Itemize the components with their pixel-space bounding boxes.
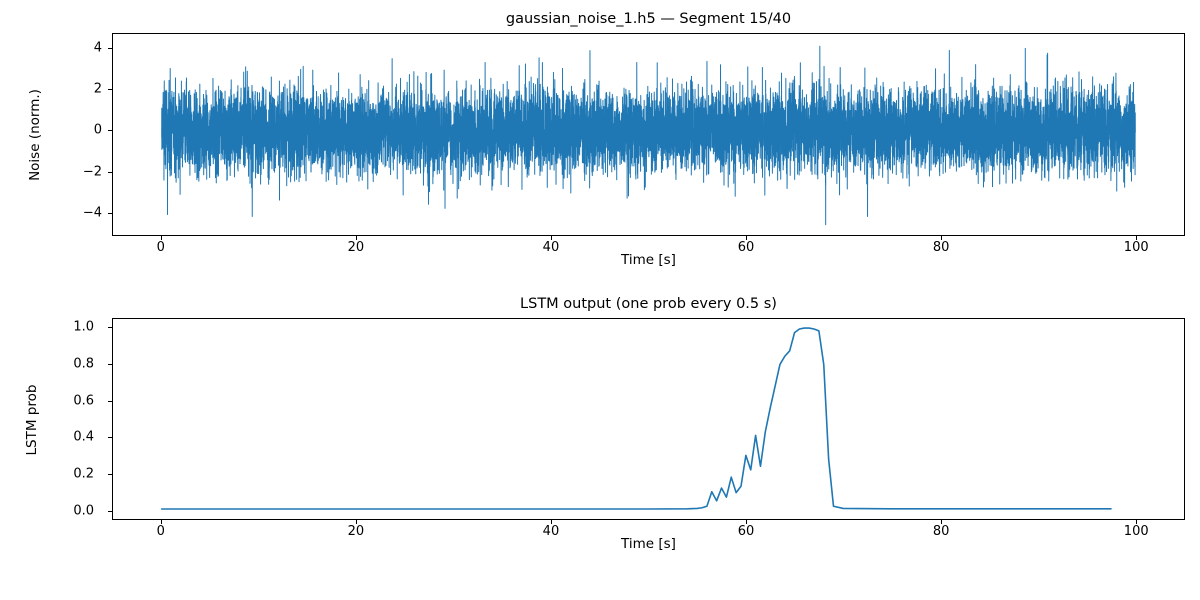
lstm-plot-title: LSTM output (one prob every 0.5 s): [112, 296, 1185, 312]
x-tick-mark: [941, 520, 942, 524]
y-tick-label: 1.0: [50, 320, 94, 335]
y-tick-label: 0.6: [50, 393, 94, 408]
noise-trace-plot: [113, 34, 1184, 235]
y-tick-label: 0.8: [50, 356, 94, 371]
lstm-panel: LSTM output (one prob every 0.5 s) LSTM …: [0, 290, 1200, 600]
x-tick-label: 80: [933, 524, 950, 539]
lstm-probability-line: [162, 328, 1111, 509]
x-tick-mark: [356, 236, 357, 240]
x-tick-label: 100: [1124, 524, 1149, 539]
x-tick-label: 60: [738, 240, 755, 255]
x-tick-mark: [746, 236, 747, 240]
y-tick-label: 2: [58, 81, 102, 96]
x-tick-label: 60: [738, 524, 755, 539]
noise-plot-title: gaussian_noise_1.h5 — Segment 15/40: [112, 11, 1185, 27]
noise-panel: gaussian_noise_1.h5 — Segment 15/40 Nois…: [0, 0, 1200, 290]
lstm-axes-frame: [112, 318, 1185, 520]
x-tick-label: 80: [933, 240, 950, 255]
lstm-probability-plot: [113, 319, 1184, 519]
lstm-x-axis-label: Time [s]: [112, 536, 1185, 552]
y-tick-label: −4: [58, 206, 102, 221]
y-tick-label: 0.4: [50, 430, 94, 445]
lstm-y-axis-label: LSTM prob: [24, 340, 40, 500]
x-tick-label: 40: [543, 524, 560, 539]
x-tick-mark: [551, 236, 552, 240]
y-tick-label: 0: [58, 123, 102, 138]
x-tick-mark: [1136, 236, 1137, 240]
x-tick-mark: [161, 520, 162, 524]
noise-trace-line: [162, 46, 1136, 224]
x-tick-label: 20: [348, 524, 365, 539]
y-tick-label: 4: [58, 40, 102, 55]
x-tick-label: 20: [348, 240, 365, 255]
x-tick-label: 0: [157, 524, 165, 539]
noise-axes-frame: [112, 33, 1185, 236]
x-tick-label: 40: [543, 240, 560, 255]
x-tick-label: 100: [1124, 240, 1149, 255]
y-tick-label: −2: [58, 164, 102, 179]
figure-canvas: gaussian_noise_1.h5 — Segment 15/40 Nois…: [0, 0, 1200, 600]
x-tick-mark: [746, 520, 747, 524]
x-tick-mark: [161, 236, 162, 240]
x-tick-mark: [551, 520, 552, 524]
noise-y-axis-label: Noise (norm.): [27, 55, 43, 215]
x-tick-mark: [941, 236, 942, 240]
noise-x-axis-label: Time [s]: [112, 252, 1185, 268]
y-tick-label: 0.0: [50, 503, 94, 518]
x-tick-mark: [1136, 520, 1137, 524]
x-tick-mark: [356, 520, 357, 524]
x-tick-label: 0: [157, 240, 165, 255]
y-tick-label: 0.2: [50, 467, 94, 482]
